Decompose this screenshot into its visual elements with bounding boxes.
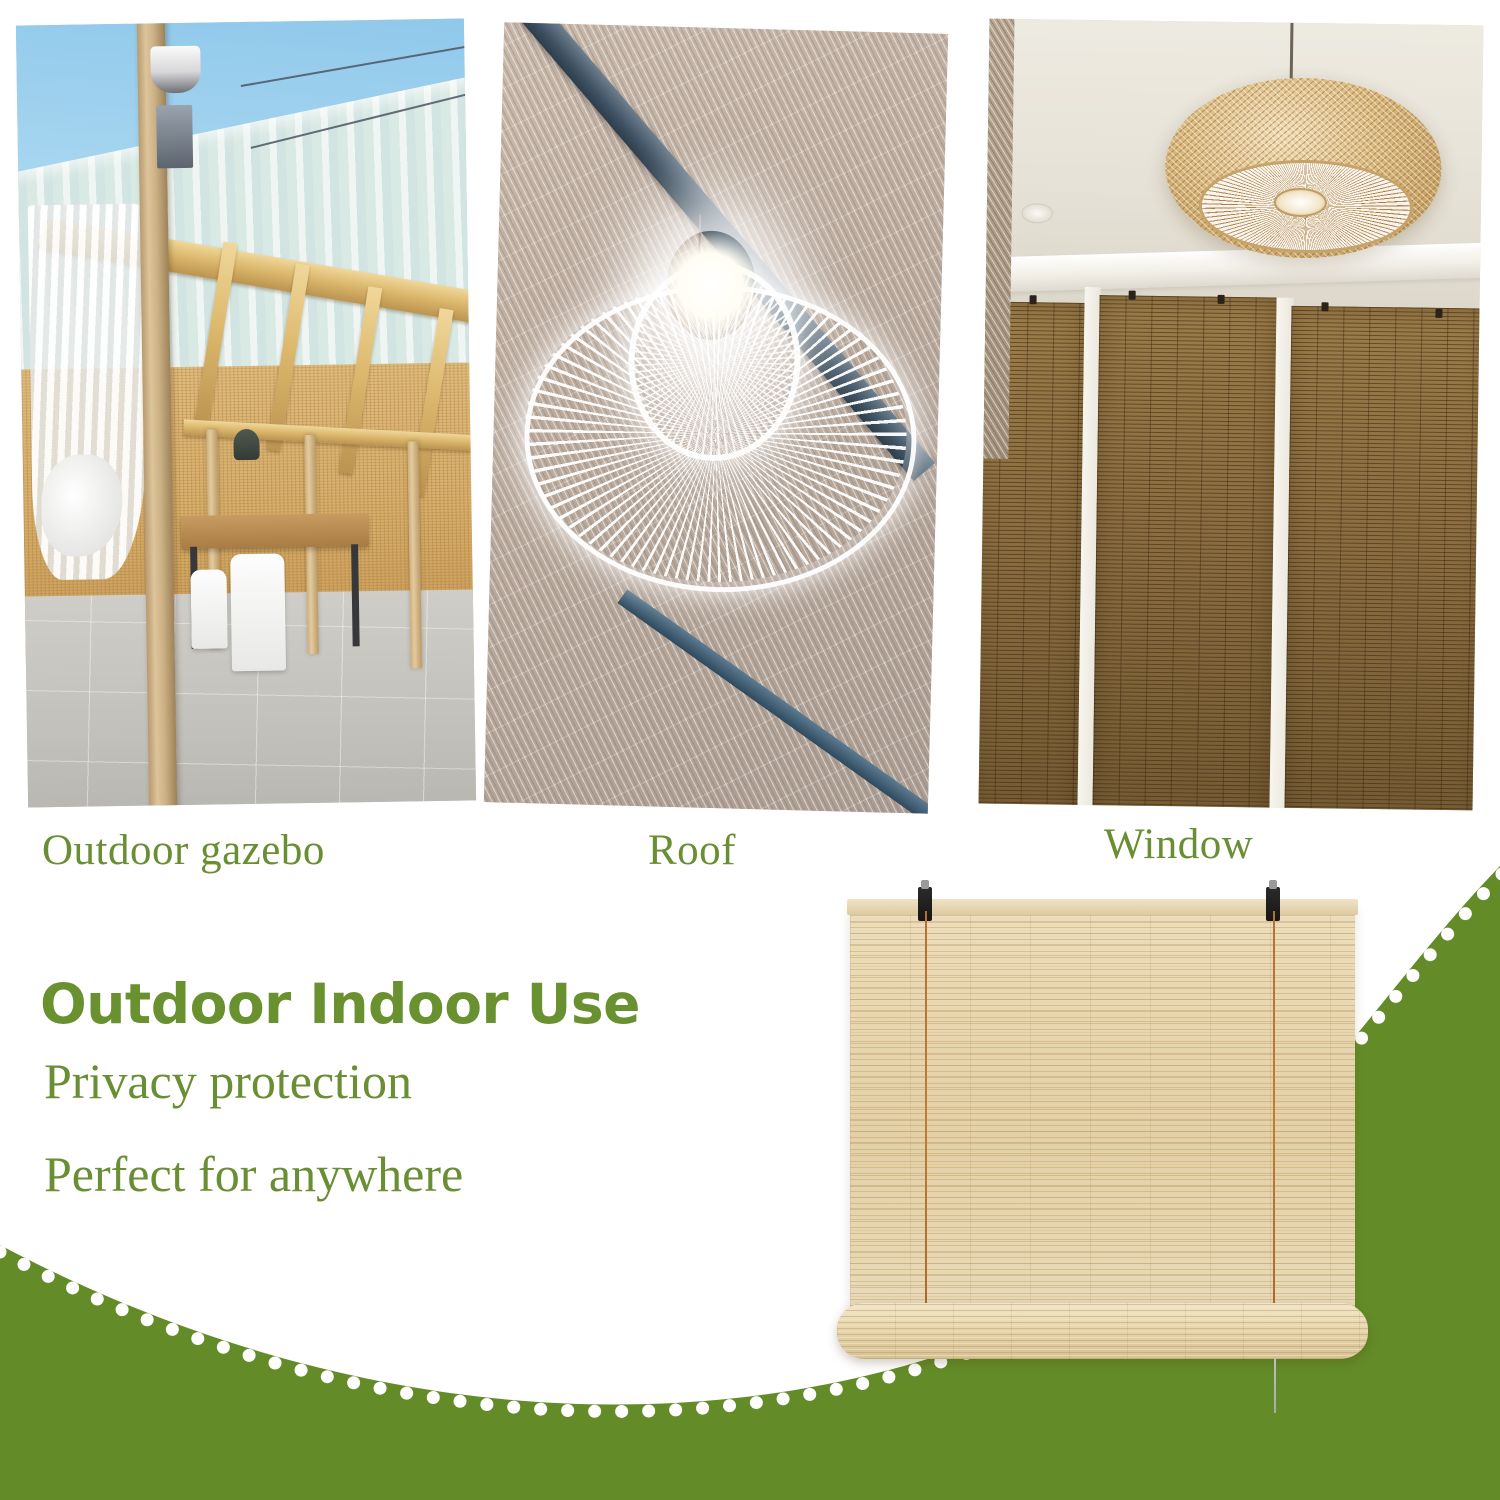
wave-dot — [0, 1246, 7, 1259]
wave-dot — [696, 1402, 709, 1415]
reed-blind-panel — [1092, 295, 1277, 811]
wave-dot — [1477, 887, 1490, 900]
wave-dot — [191, 1332, 204, 1345]
wave-dot — [243, 1349, 256, 1362]
blind-hook — [1030, 295, 1037, 304]
recessed-downlight — [1021, 204, 1053, 224]
wave-dot — [91, 1293, 104, 1306]
wave-dot — [615, 1405, 628, 1418]
wave-dot — [1441, 928, 1454, 941]
wave-dot — [427, 1391, 440, 1404]
white-chair — [190, 570, 227, 649]
wave-dot — [507, 1401, 520, 1414]
wave-dot — [217, 1341, 230, 1354]
promo-subline-perfect: Perfect for anywhere — [44, 1145, 463, 1203]
wave-dot — [1406, 969, 1419, 982]
wooden-table — [180, 513, 369, 549]
wave-dot — [66, 1281, 79, 1294]
photo-gallery-row — [0, 0, 1500, 815]
wave-dot — [141, 1313, 154, 1326]
wave-dot — [374, 1382, 387, 1395]
junction-box — [156, 105, 193, 168]
wave-dot — [166, 1323, 179, 1336]
shade-pull-cord — [1274, 1357, 1276, 1413]
page-headline: Outdoor Indoor Use — [40, 972, 640, 1036]
white-chair — [230, 553, 286, 671]
wave-dot — [669, 1403, 682, 1416]
wave-dot — [830, 1383, 843, 1396]
wave-dot — [534, 1403, 547, 1416]
wave-dot — [480, 1398, 493, 1411]
wave-dot — [1355, 1032, 1368, 1045]
blind-hook — [1129, 291, 1136, 300]
wave-dot — [1372, 1011, 1385, 1024]
wave-dot — [116, 1303, 129, 1316]
lift-cord-right — [1273, 911, 1275, 1331]
wave-dot — [42, 1270, 55, 1283]
blind-hook — [1321, 303, 1328, 312]
wave-dot — [803, 1388, 816, 1401]
wave-dot — [1496, 868, 1500, 881]
wave-dot — [269, 1357, 282, 1370]
wave-dot — [17, 1258, 30, 1271]
wave-dot — [347, 1376, 360, 1389]
hanging-lamp — [233, 428, 260, 460]
photo-roof — [484, 22, 948, 813]
photo-outdoor-gazebo — [16, 19, 476, 808]
wave-dot — [723, 1399, 736, 1412]
blind-hook — [1218, 295, 1225, 304]
product-reed-roller-shade — [850, 905, 1355, 1385]
security-camera — [151, 46, 201, 94]
wave-dot — [321, 1370, 334, 1383]
bamboo-lamp-center — [1273, 187, 1327, 217]
wave-dot — [1424, 948, 1437, 961]
wave-dot — [400, 1387, 413, 1400]
reed-blind-panel — [1284, 305, 1483, 810]
wave-dot — [1389, 990, 1402, 1003]
wave-dot — [1459, 907, 1472, 920]
photo-window — [979, 19, 1484, 811]
wave-dot — [588, 1405, 601, 1418]
lift-cord-left — [925, 911, 927, 1331]
caption-outdoor-gazebo: Outdoor gazebo — [42, 826, 325, 875]
wave-dot — [777, 1392, 790, 1405]
product-marketing-image: Outdoor gazebo Roof Window Outdoor Indoo… — [0, 0, 1500, 1500]
wave-dot — [561, 1404, 574, 1417]
wave-dot — [750, 1396, 763, 1409]
caption-roof: Roof — [648, 826, 736, 875]
wave-dot — [295, 1364, 308, 1377]
promo-subline-privacy: Privacy protection — [44, 1052, 412, 1110]
wave-dot — [454, 1395, 467, 1408]
caption-window: Window — [1104, 820, 1253, 869]
blind-hook — [1435, 309, 1442, 318]
shade-bottom-roll — [837, 1303, 1368, 1359]
wave-dot — [642, 1404, 655, 1417]
